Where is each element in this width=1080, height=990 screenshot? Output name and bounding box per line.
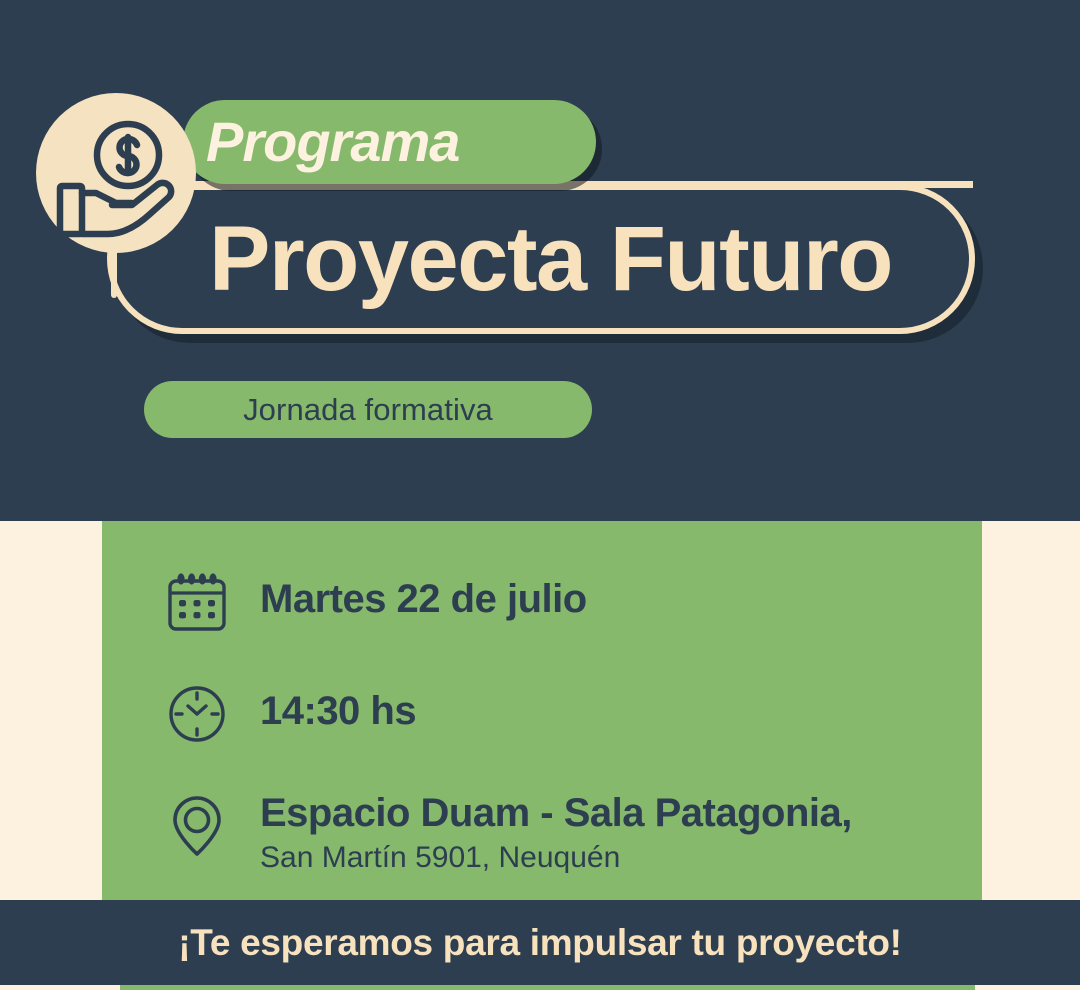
detail-row-date: Martes 22 de julio	[164, 569, 587, 635]
program-title-box: Proyecta Futuro	[107, 184, 975, 334]
programa-pill: Programa	[183, 100, 596, 184]
detail-row-location: Espacio Duam - Sala Patagonia, San Martí…	[164, 793, 852, 877]
jornada-formativa-label: Jornada formativa	[243, 392, 493, 428]
jornada-formativa-badge: Jornada formativa	[144, 381, 592, 438]
hand-holding-coin-icon	[36, 93, 196, 253]
event-address-text: San Martín 5901, Neuquén	[260, 833, 852, 877]
detail-body-time: 14:30 hs	[230, 681, 416, 731]
calendar-icon	[164, 569, 230, 635]
programa-kicker-label: Programa	[183, 100, 596, 184]
detail-body-location: Espacio Duam - Sala Patagonia, San Martí…	[230, 793, 852, 877]
poster-canvas: Programa Proyecta Futuro	[0, 0, 1080, 990]
footer-section: ¡Te esperamos para impulsar tu proyecto!	[0, 900, 1080, 985]
event-time-text: 14:30 hs	[260, 691, 416, 731]
location-pin-icon	[164, 793, 230, 859]
footer-strip-right	[975, 985, 1080, 990]
header-section: Programa Proyecta Futuro	[0, 0, 1080, 521]
event-details-panel: Martes 22 de julio	[102, 521, 982, 900]
footer-strip-left	[0, 985, 120, 990]
event-date-text: Martes 22 de julio	[260, 579, 587, 619]
clock-icon	[164, 681, 230, 747]
detail-body-date: Martes 22 de julio	[230, 569, 587, 619]
page-title: Proyecta Futuro	[113, 190, 981, 328]
detail-row-time: 14:30 hs	[164, 681, 416, 747]
footer-accent-strip	[120, 985, 975, 990]
event-venue-text: Espacio Duam - Sala Patagonia,	[260, 793, 852, 833]
footer-call-to-action: ¡Te esperamos para impulsar tu proyecto!	[178, 922, 901, 964]
